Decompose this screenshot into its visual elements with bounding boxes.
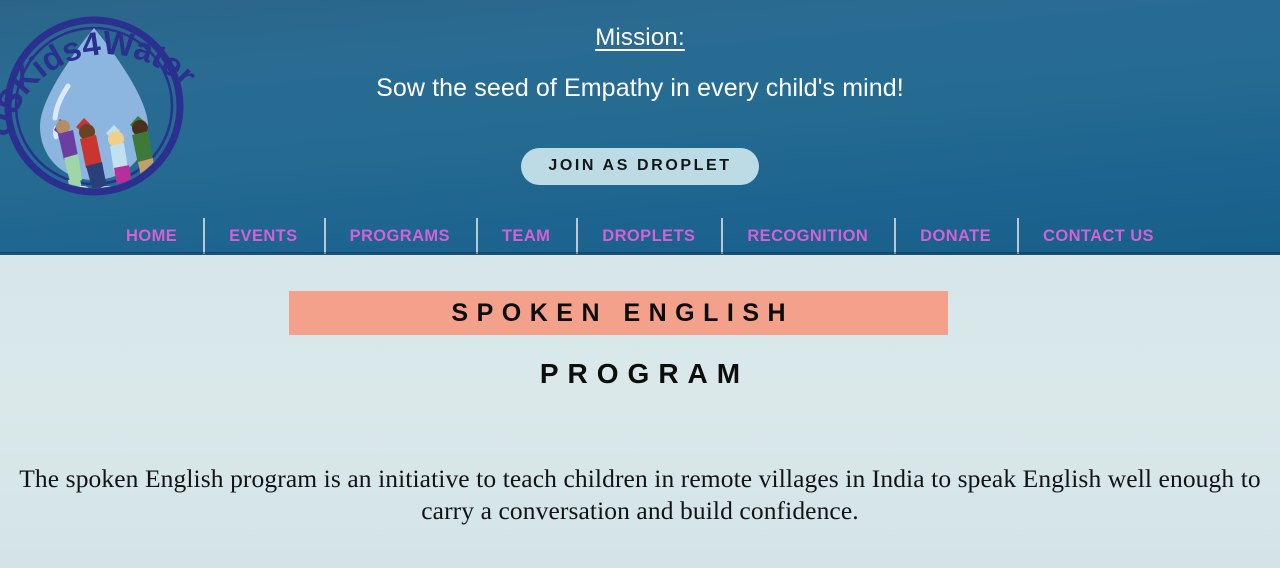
nav-item-programs[interactable]: PROGRAMS — [324, 217, 476, 255]
program-subheading: PROGRAM — [0, 358, 1280, 390]
logo-graphic: USKids4Water — [0, 0, 213, 216]
mission-block: Mission: Sow the seed of Empathy in ever… — [215, 24, 1065, 103]
mission-title: Mission: — [215, 24, 1065, 52]
main-navigation: HOME EVENTS PROGRAMS TEAM DROPLETS RECOG… — [0, 217, 1280, 255]
nav-item-recognition[interactable]: RECOGNITION — [721, 217, 894, 255]
nav-item-contact-us[interactable]: CONTACT US — [1017, 217, 1180, 255]
site-header: USKids4Water Mission: Sow the seed of Em… — [0, 0, 1280, 255]
mission-statement: Sow the seed of Empathy in every child's… — [215, 74, 1065, 103]
program-description: The spoken English program is an initiat… — [18, 463, 1262, 527]
site-logo[interactable]: USKids4Water — [0, 0, 213, 216]
nav-item-donate[interactable]: DONATE — [894, 217, 1017, 255]
join-as-droplet-button[interactable]: JOIN AS DROPLET — [521, 148, 758, 185]
nav-item-home[interactable]: HOME — [100, 217, 203, 255]
nav-item-droplets[interactable]: DROPLETS — [576, 217, 721, 255]
page-root: USKids4Water Mission: Sow the seed of Em… — [0, 0, 1280, 568]
nav-item-events[interactable]: EVENTS — [203, 217, 323, 255]
program-title-text: SPOKEN ENGLISH — [443, 299, 794, 328]
program-title-banner: SPOKEN ENGLISH — [289, 291, 948, 335]
page-content: SPOKEN ENGLISH PROGRAM The spoken Englis… — [0, 255, 1280, 568]
nav-item-team[interactable]: TEAM — [476, 217, 576, 255]
cta-container: JOIN AS DROPLET — [215, 148, 1065, 185]
